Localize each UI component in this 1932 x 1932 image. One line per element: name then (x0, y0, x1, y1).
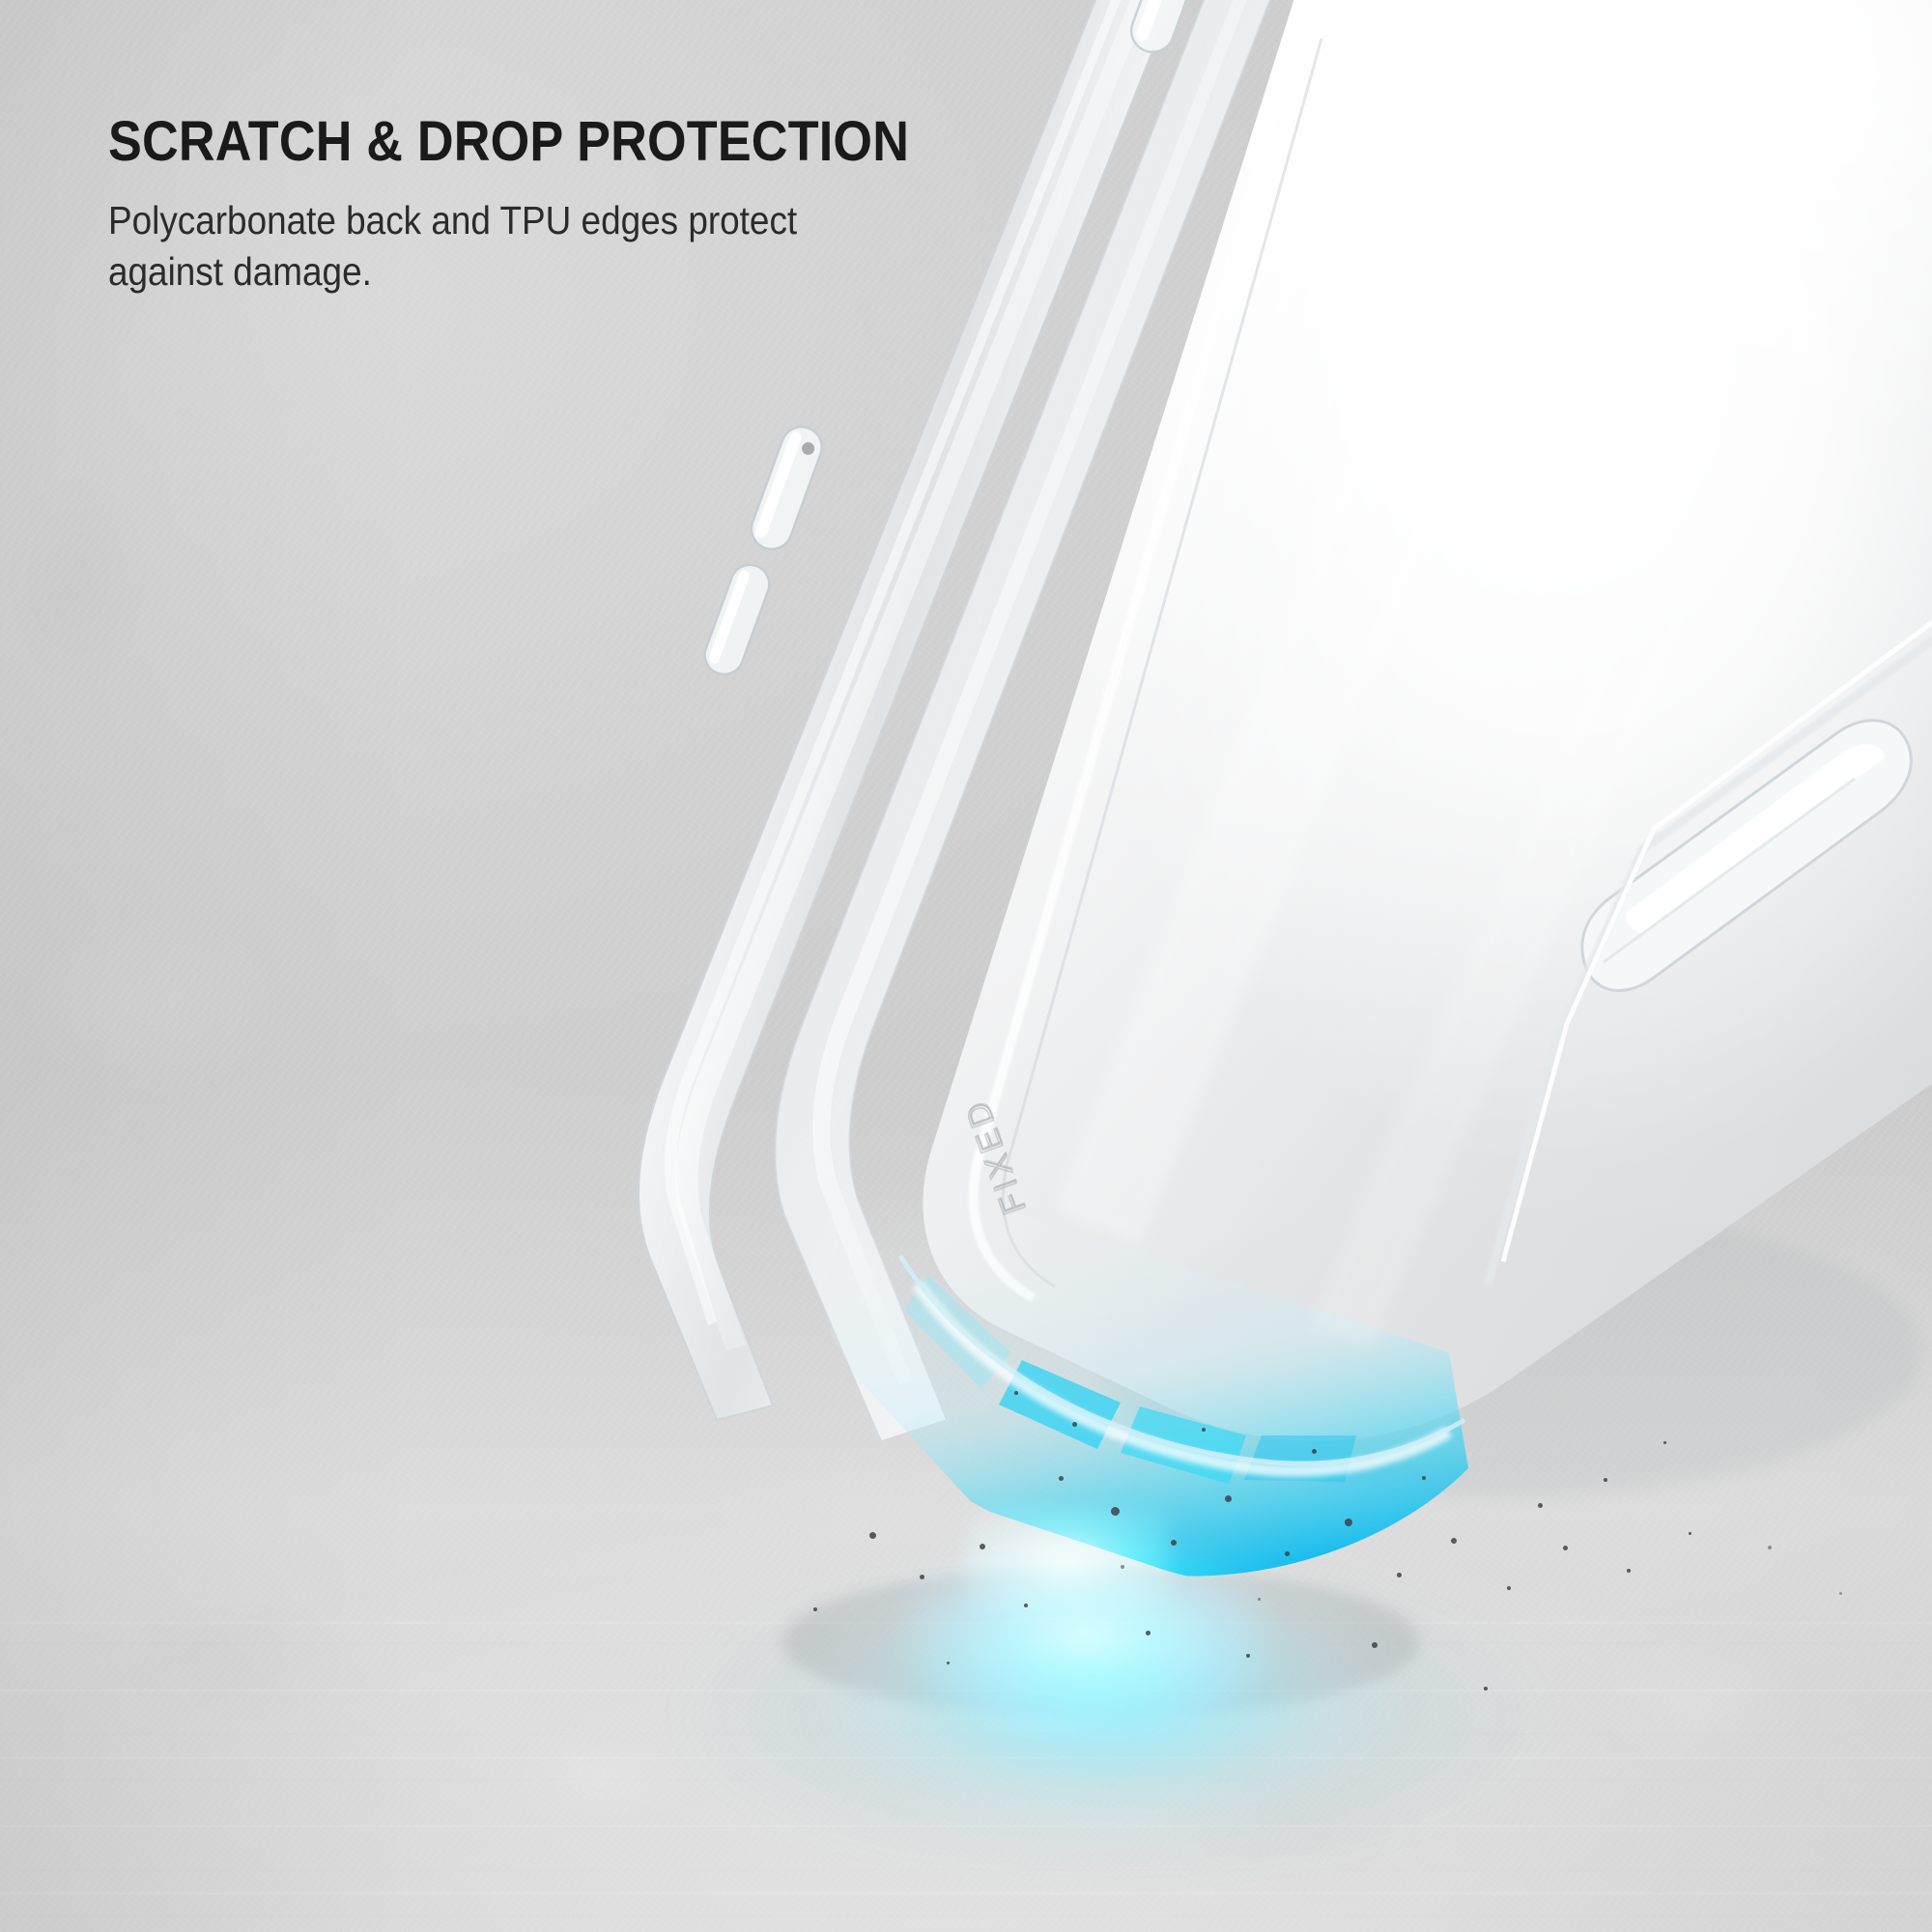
feature-copy-block: SCRATCH & DROP PROTECTION Polycarbonate … (108, 114, 1248, 298)
subheadline: Polycarbonate back and TPU edges protect… (108, 170, 821, 298)
product-feature-graphic: FIXED FIXED (0, 0, 1932, 1932)
headline: SCRATCH & DROP PROTECTION (108, 114, 1134, 170)
